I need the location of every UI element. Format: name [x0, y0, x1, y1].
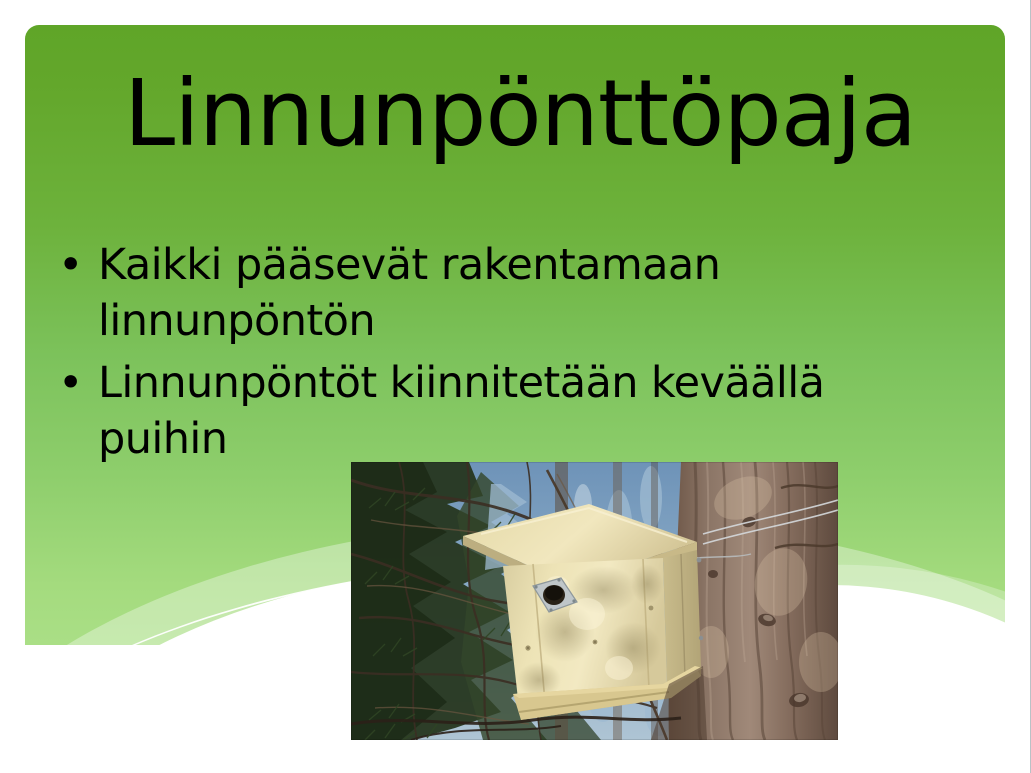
- bullet-icon: •: [58, 356, 83, 412]
- list-item-label: Kaikki pääsevät rakentamaan linnunpöntön: [98, 240, 720, 346]
- bullet-icon: •: [58, 238, 83, 294]
- list-item: • Kaikki pääsevät rakentamaan linnunpönt…: [46, 238, 946, 350]
- birdhouse-photo: [351, 462, 838, 740]
- presentation-slide: Linnunpönttöpaja • Kaikki pääsevät raken…: [0, 0, 1031, 773]
- birdhouse-photo-graphic: [351, 462, 838, 740]
- page-title: Linnunpönttöpaja: [60, 66, 980, 162]
- list-item-label: Linnunpöntöt kiinnitetään keväällä puihi…: [98, 358, 824, 464]
- list-item: • Linnunpöntöt kiinnitetään keväällä pui…: [46, 356, 946, 468]
- bullet-list: • Kaikki pääsevät rakentamaan linnunpönt…: [46, 238, 946, 474]
